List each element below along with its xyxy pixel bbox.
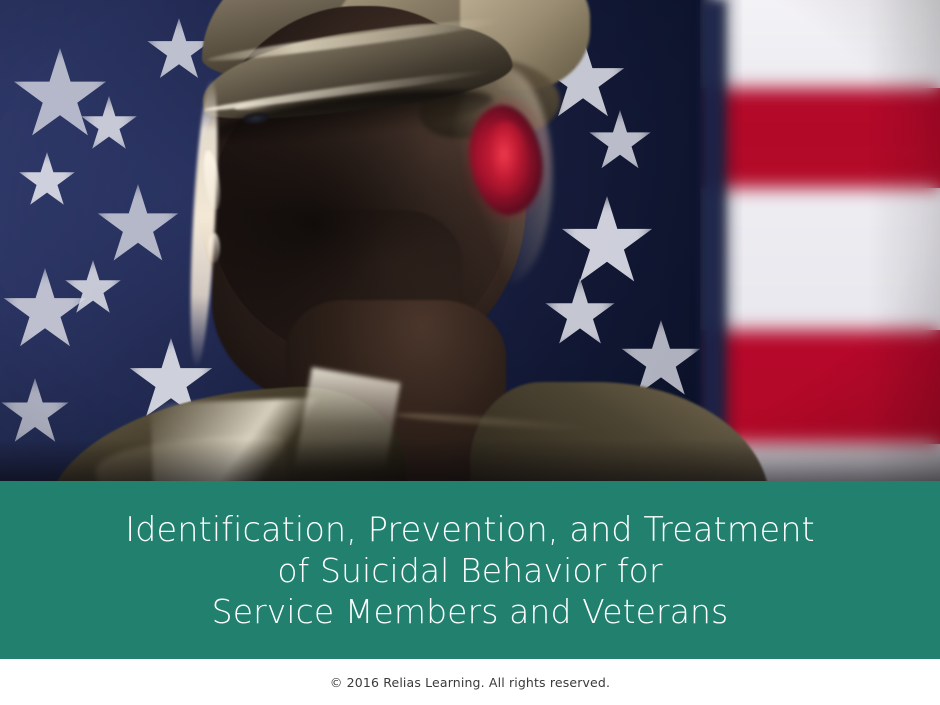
- photo-bottom-fade: [0, 439, 940, 481]
- copyright-notice: © 2016 Relias Learning. All rights reser…: [330, 675, 610, 690]
- footer: © 2016 Relias Learning. All rights reser…: [0, 659, 940, 705]
- hero-photo: [0, 0, 940, 481]
- title-banner: Identification, Prevention, and Treatmen…: [0, 481, 940, 659]
- course-title-line-2: of Suicidal Behavior for: [277, 550, 662, 591]
- course-title-line-1: Identification, Prevention, and Treatmen…: [125, 509, 815, 550]
- photo-vignette: [0, 0, 940, 481]
- course-title-card: Identification, Prevention, and Treatmen…: [0, 0, 940, 705]
- course-title-line-3: Service Members and Veterans: [212, 591, 729, 632]
